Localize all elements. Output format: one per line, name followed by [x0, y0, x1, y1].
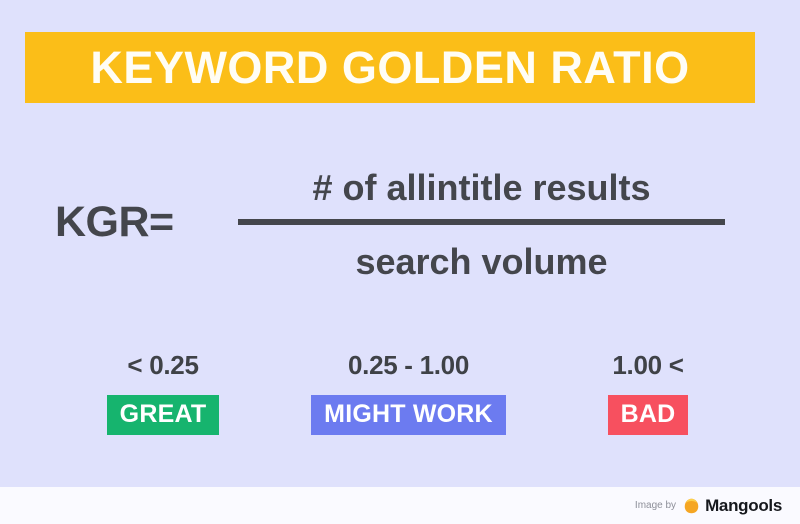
status-badge-bad: BAD	[608, 395, 689, 435]
status-badge-might-work: MIGHT WORK	[311, 395, 506, 435]
formula-left-label: KGR=	[55, 201, 174, 244]
footer-attribution: Image by Mangools	[0, 487, 800, 524]
page-title: KEYWORD GOLDEN RATIO	[90, 45, 689, 90]
threshold-column-might-work: 0.25 - 1.00 MIGHT WORK	[296, 352, 521, 435]
credit-label: Image by	[635, 501, 676, 511]
formula-denominator: search volume	[238, 225, 725, 280]
mango-logo-icon	[684, 498, 699, 514]
infographic-canvas: KEYWORD GOLDEN RATIO KGR= # of allintitl…	[0, 0, 800, 524]
formula-fraction: # of allintitle results search volume	[238, 170, 725, 280]
formula-numerator: # of allintitle results	[238, 170, 725, 219]
threshold-range-value: 0.25 - 1.00	[348, 352, 469, 378]
threshold-range-value: < 0.25	[127, 352, 198, 378]
kgr-formula: KGR= # of allintitle results search volu…	[0, 170, 800, 300]
brand-name: Mangools	[705, 497, 782, 514]
threshold-column-bad: 1.00 < BAD	[558, 352, 738, 435]
status-badge-great: GREAT	[107, 395, 220, 435]
threshold-range-value: 1.00 <	[612, 352, 683, 378]
threshold-column-great: < 0.25 GREAT	[63, 352, 263, 435]
title-banner: KEYWORD GOLDEN RATIO	[25, 32, 755, 103]
threshold-legend: < 0.25 GREAT 0.25 - 1.00 MIGHT WORK 1.00…	[0, 352, 800, 442]
